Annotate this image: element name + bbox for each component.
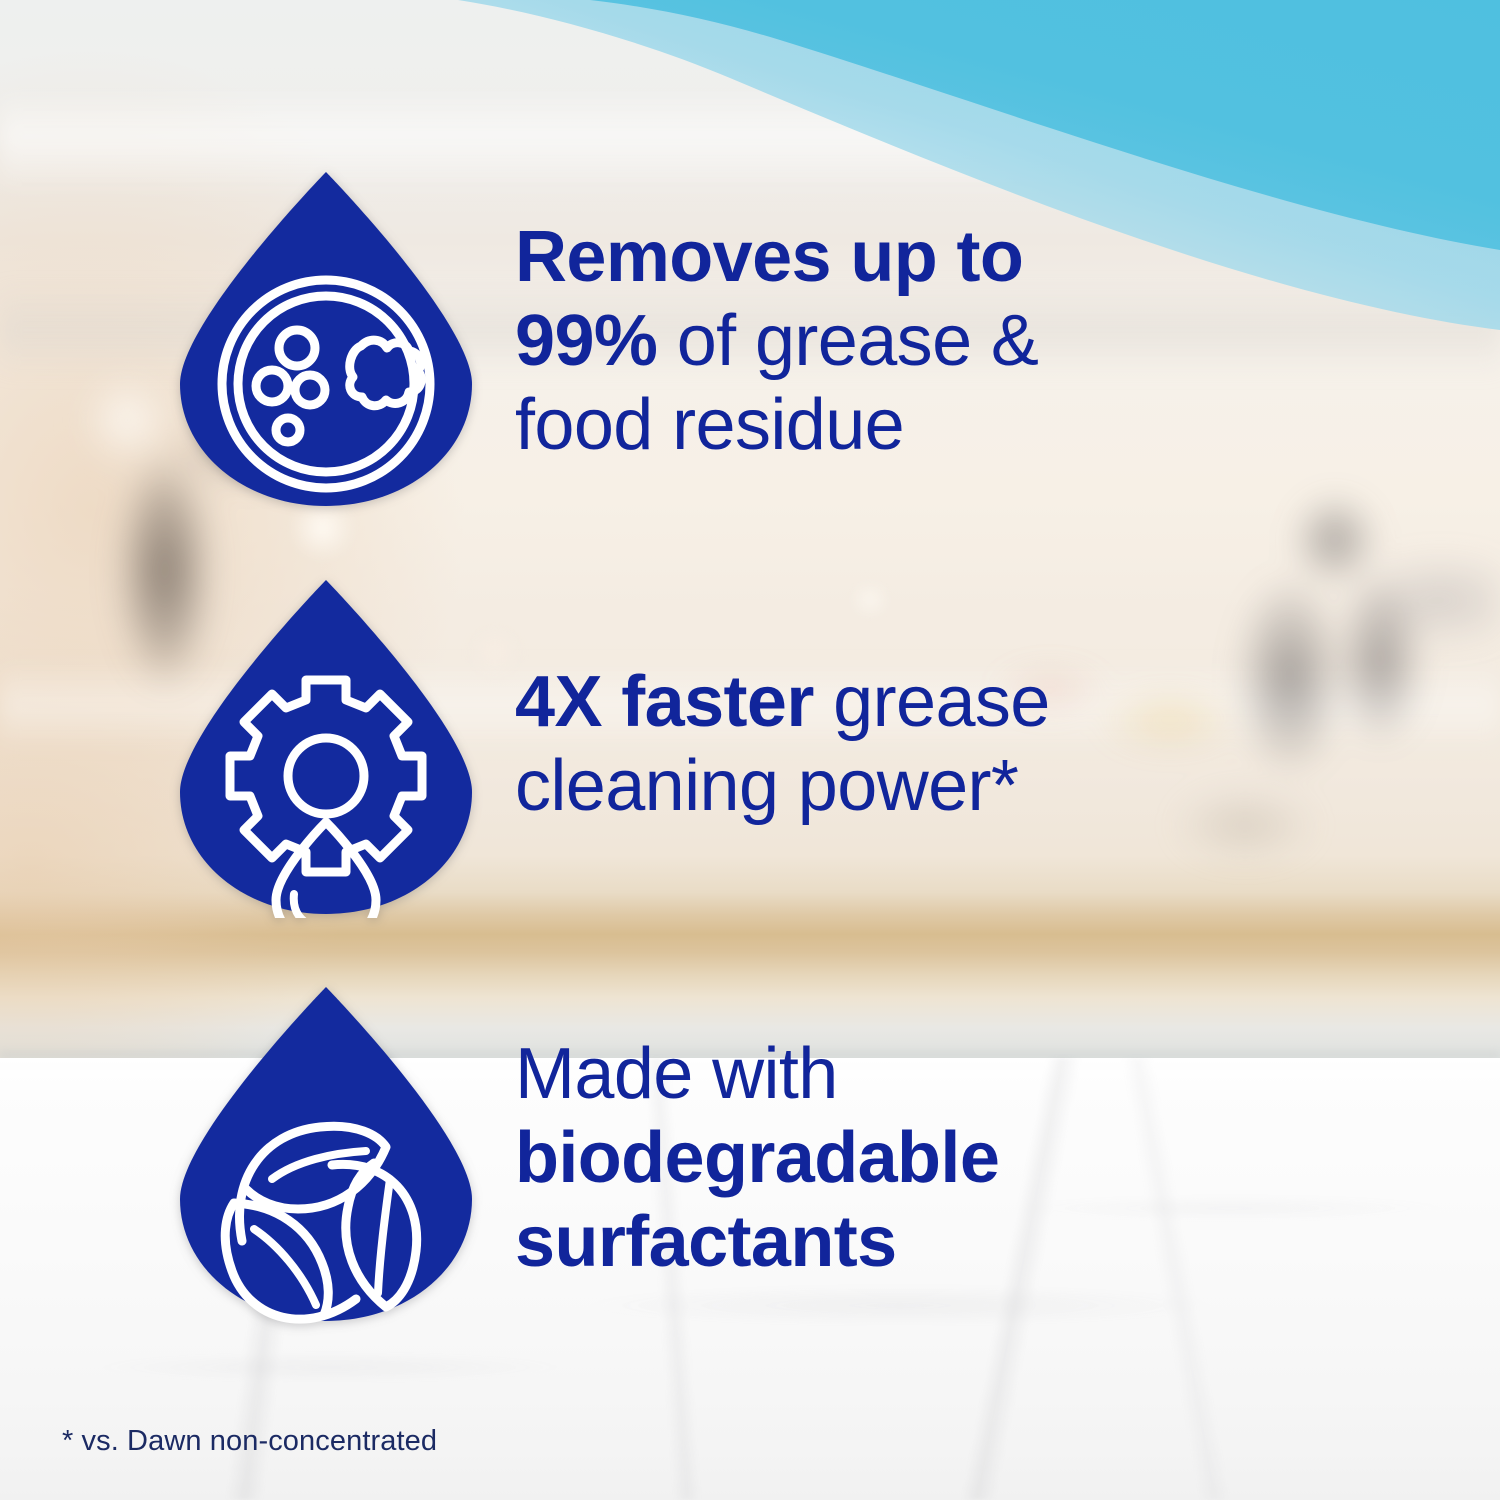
infographic-canvas: Removes up to 99% of grease & food resid… [0, 0, 1500, 1500]
benefit-3-line-2: biodegradable [515, 1116, 999, 1200]
benefit-2-seg-2: grease [814, 662, 1050, 742]
droplet-plate-bubbles-glyph [180, 168, 472, 510]
benefit-1-seg-1: Removes up to [515, 217, 1023, 297]
benefit-3-seg-2: biodegradable [515, 1118, 999, 1198]
benefit-2-seg-1: 4X faster [515, 662, 814, 742]
droplet-gear-drop-glyph [180, 576, 472, 918]
droplet-gear-drop-icon [180, 576, 472, 918]
benefit-3-line-3: surfactants [515, 1200, 999, 1284]
benefit-1-seg-4: food residue [515, 385, 904, 465]
benefit-3-text: Made with biodegradable surfactants [515, 1032, 999, 1285]
benefit-1-text: Removes up to 99% of grease & food resid… [515, 215, 1038, 468]
benefit-2-line-2: cleaning power* [515, 744, 1050, 828]
benefit-1-seg-3: of grease & [657, 301, 1038, 381]
benefit-2-text: 4X faster grease cleaning power* [515, 660, 1050, 828]
benefit-3-seg-1: Made with [515, 1034, 838, 1114]
benefit-1-line-3: food residue [515, 383, 1038, 467]
benefit-1-line-1: Removes up to [515, 215, 1038, 299]
footnote-disclaimer: * vs. Dawn non-concentrated [62, 1425, 437, 1458]
droplet-three-leaves-icon [180, 983, 472, 1325]
droplet-three-leaves-glyph [180, 983, 472, 1325]
benefit-3-seg-3: surfactants [515, 1202, 897, 1282]
benefits-list: Removes up to 99% of grease & food resid… [0, 0, 1500, 1500]
droplet-plate-bubbles-icon [180, 168, 472, 510]
benefit-3-line-1: Made with [515, 1032, 999, 1116]
benefit-2-line-1: 4X faster grease [515, 660, 1050, 744]
benefit-1-line-2: 99% of grease & [515, 299, 1038, 383]
benefit-1-seg-2: 99% [515, 301, 657, 381]
benefit-2-seg-3: cleaning power* [515, 746, 1018, 826]
